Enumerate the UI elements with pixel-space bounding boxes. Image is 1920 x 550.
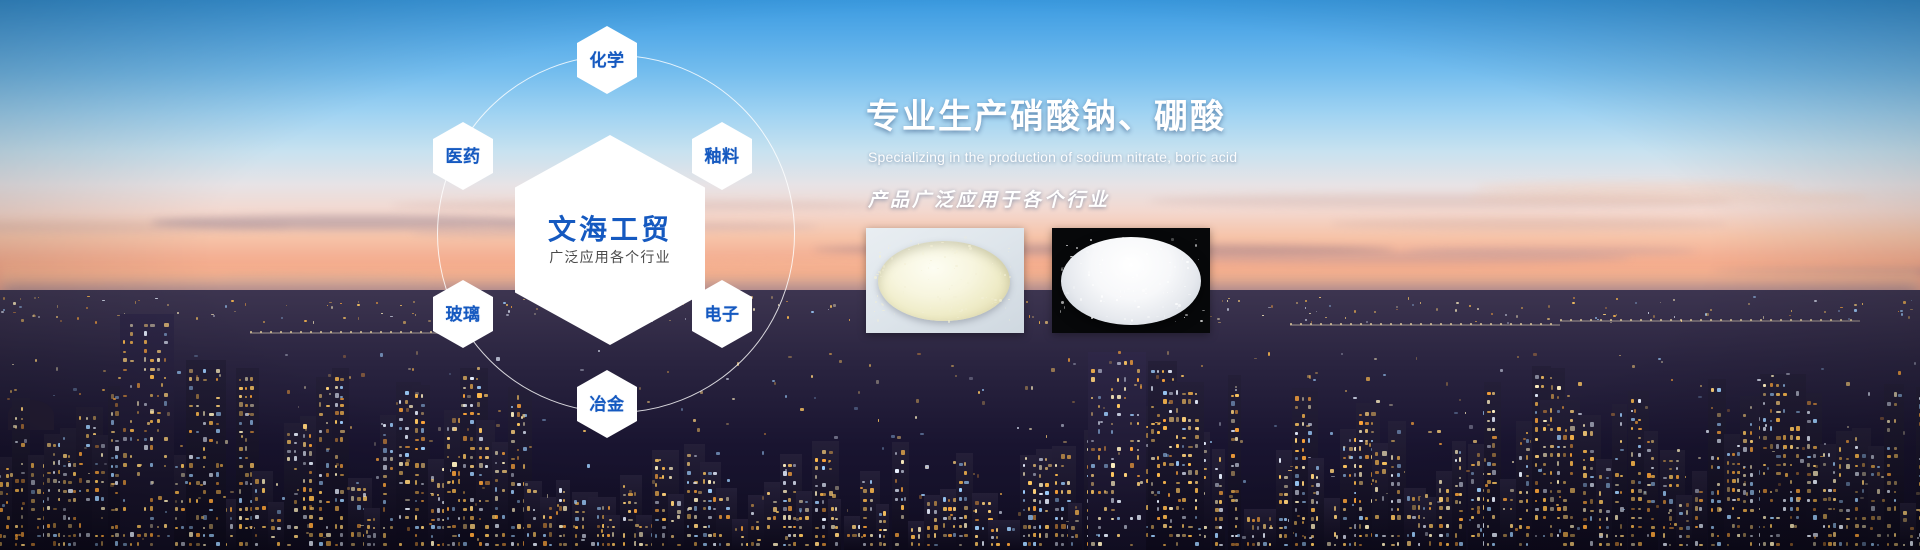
promo-banner: 化学 釉料 电子 冶金 玻璃 医药 文海工贸 广泛应用各个行业 专业生产硝酸钠、… (0, 0, 1920, 550)
powder-grains-cream (866, 228, 1024, 333)
industry-hexagon-diagram: 化学 釉料 电子 冶金 玻璃 医药 文海工贸 广泛应用各个行业 (415, 30, 815, 440)
headline-text: 专业生产硝酸钠、硼酸 (866, 98, 1626, 137)
hex-node-glaze-label: 釉料 (705, 148, 740, 165)
product-photo-boric-acid[interactable] (1052, 228, 1210, 333)
headline-tagline: 产品广泛应用于各个行业 (868, 185, 1626, 212)
hex-node-glass-label: 玻璃 (446, 306, 481, 323)
brand-name: 文海工贸 (548, 216, 672, 244)
brand-subtitle: 广泛应用各个行业 (549, 250, 671, 264)
hex-node-medicine-label: 医药 (446, 148, 481, 165)
hex-node-metallurgy-label: 冶金 (590, 396, 625, 413)
product-photo-row (866, 228, 1210, 333)
headline-subtitle-en: Specializing in the production of sodium… (868, 149, 1626, 165)
product-photo-sodium-nitrate[interactable] (866, 228, 1024, 333)
hex-node-electronics-label: 电子 (705, 306, 740, 323)
headline-block: 专业生产硝酸钠、硼酸 Specializing in the productio… (866, 98, 1626, 212)
powder-grains-white (1052, 228, 1210, 333)
hex-node-chemistry-label: 化学 (590, 52, 625, 69)
